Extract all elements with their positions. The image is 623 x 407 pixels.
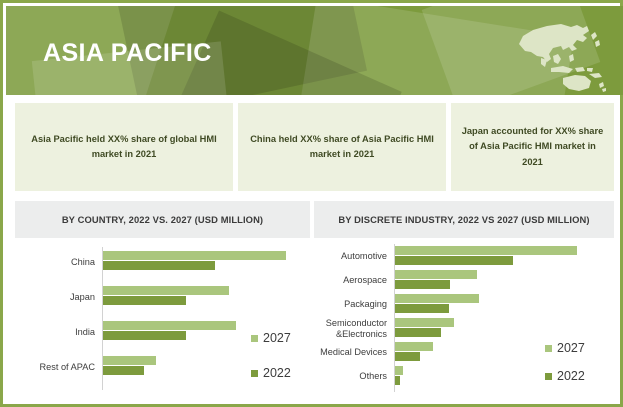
category-label-medical-devices: Medical Devices: [307, 347, 387, 358]
bar-rest-of-apac-2022: [103, 366, 144, 375]
stat-box-china: China held XX% share of Asia Pacific HMI…: [238, 103, 446, 191]
bar-packaging-2022: [395, 304, 449, 313]
charts-area: China Japan India Re: [6, 241, 623, 404]
legend-label-2022: 2022: [263, 366, 291, 380]
bar-china-2022: [103, 261, 215, 270]
chart-row-china: China: [15, 249, 315, 279]
asia-pacific-map-icon: [503, 18, 609, 92]
chart-by-country: China Japan India Re: [15, 241, 315, 404]
category-label-india: India: [15, 327, 95, 338]
legend-label-2022: 2022: [557, 369, 585, 383]
category-label-automotive: Automotive: [313, 251, 387, 262]
chart-row-automotive: Automotive: [313, 245, 618, 269]
legend-swatch-2022: [251, 370, 258, 377]
legend-swatch-2022: [545, 373, 552, 380]
page-title: ASIA PACIFIC: [43, 39, 212, 68]
category-label-packaging: Packaging: [313, 299, 387, 310]
bar-aerospace-2022: [395, 280, 450, 289]
category-label-aerospace: Aerospace: [313, 275, 387, 286]
chart-row-aerospace: Aerospace: [313, 269, 618, 293]
bar-automotive-2027: [395, 246, 577, 255]
plot-area-by-discrete-industry: Automotive Aerospace Packaging: [313, 241, 618, 404]
category-label-rest-of-apac: Rest of APAC: [15, 362, 95, 373]
legend-item-2022[interactable]: 2022: [251, 366, 291, 380]
plot-area-by-country: China Japan India Re: [15, 241, 315, 404]
stat-box-asia-pacific: Asia Pacific held XX% share of global HM…: [15, 103, 233, 191]
legend-label-2027: 2027: [557, 341, 585, 355]
chart-row-packaging: Packaging: [313, 293, 618, 317]
bar-packaging-2027: [395, 294, 479, 303]
bar-india-2022: [103, 331, 186, 340]
chart-header-row: BY COUNTRY, 2022 VS. 2027 (USD MILLION) …: [15, 201, 614, 238]
bar-others-2027: [395, 366, 403, 375]
stat-box-row: Asia Pacific held XX% share of global HM…: [15, 103, 614, 191]
bar-japan-2022: [103, 296, 186, 305]
bar-semiconductor-electronics-2022: [395, 328, 441, 337]
category-label-others: Others: [313, 371, 387, 382]
chart-header-by-country: BY COUNTRY, 2022 VS. 2027 (USD MILLION): [15, 201, 310, 238]
legend-item-2027[interactable]: 2027: [251, 331, 291, 345]
category-label-semiconductor-electronics: Semiconductor &Electronics: [307, 318, 387, 339]
bar-semiconductor-electronics-2027: [395, 318, 454, 327]
stat-box-japan: Japan accounted for XX% share of Asia Pa…: [451, 103, 614, 191]
bar-automotive-2022: [395, 256, 513, 265]
legend-swatch-2027: [545, 345, 552, 352]
legend-item-2022[interactable]: 2022: [545, 369, 585, 383]
legend-item-2027[interactable]: 2027: [545, 341, 585, 355]
chart-row-japan: Japan: [15, 284, 315, 314]
bar-medical-devices-2027: [395, 342, 433, 351]
bar-india-2027: [103, 321, 236, 330]
header-banner: ASIA PACIFIC: [6, 6, 623, 95]
chart-row-semiconductor-electronics: Semiconductor &Electronics: [313, 317, 618, 341]
category-label-japan: Japan: [15, 292, 95, 303]
legend-swatch-2027: [251, 335, 258, 342]
bar-medical-devices-2022: [395, 352, 420, 361]
chart-header-by-discrete-industry: BY DISCRETE INDUSTRY, 2022 VS 2027 (USD …: [314, 201, 614, 238]
category-label-china: China: [15, 257, 95, 268]
legend-label-2027: 2027: [263, 331, 291, 345]
bar-china-2027: [103, 251, 286, 260]
bar-others-2022: [395, 376, 400, 385]
bar-aerospace-2027: [395, 270, 477, 279]
bar-rest-of-apac-2027: [103, 356, 156, 365]
infographic-page: ASIA PACIFIC: [0, 0, 623, 407]
chart-by-discrete-industry: Automotive Aerospace Packaging: [313, 241, 618, 404]
bar-japan-2027: [103, 286, 229, 295]
